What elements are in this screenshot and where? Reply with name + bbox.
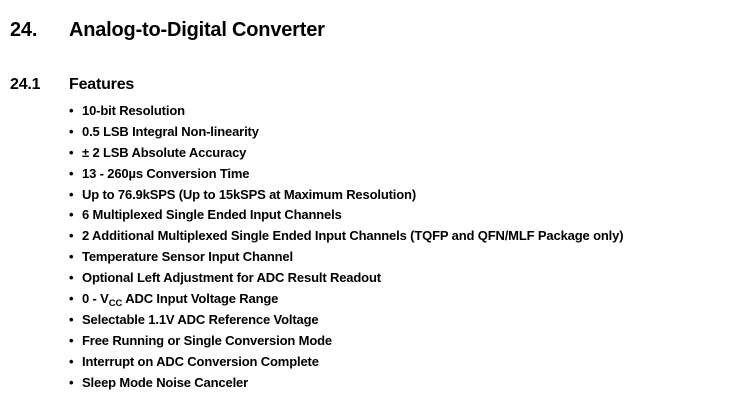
section-number: 24.: [10, 19, 37, 42]
feature-text-subscript: CC: [109, 298, 123, 309]
feature-list-item: •Interrupt on ADC Conversion Complete: [0, 352, 749, 373]
feature-list-item: •Sleep Mode Noise Canceler: [0, 373, 749, 394]
bullet-icon: •: [69, 247, 77, 268]
bullet-icon: •: [69, 205, 77, 226]
feature-list-item: •6 Multiplexed Single Ended Input Channe…: [0, 205, 749, 226]
datasheet-page: 24. Analog-to-Digital Converter 24.1 Fea…: [0, 0, 749, 414]
bullet-icon: •: [69, 185, 77, 206]
feature-list-item: •Up to 76.9kSPS (Up to 15kSPS at Maximum…: [0, 185, 749, 206]
feature-text: Temperature Sensor Input Channel: [82, 249, 293, 264]
bullet-icon: •: [69, 143, 77, 164]
feature-list-item: •2 Additional Multiplexed Single Ended I…: [0, 226, 749, 247]
bullet-icon: •: [69, 268, 77, 289]
bullet-icon: •: [69, 122, 77, 143]
subsection-title: Features: [69, 76, 134, 94]
feature-text: 0.5 LSB Integral Non-linearity: [82, 124, 259, 139]
subsection-number: 24.1: [10, 76, 40, 94]
feature-list-item: •Optional Left Adjustment for ADC Result…: [0, 268, 749, 289]
feature-text: Sleep Mode Noise Canceler: [82, 375, 248, 390]
bullet-icon: •: [69, 331, 77, 352]
feature-text: Selectable 1.1V ADC Reference Voltage: [82, 312, 319, 327]
feature-text: Interrupt on ADC Conversion Complete: [82, 354, 319, 369]
features-list: •10-bit Resolution•0.5 LSB Integral Non-…: [0, 101, 749, 393]
feature-list-item: •0.5 LSB Integral Non-linearity: [0, 122, 749, 143]
feature-list-item: •Selectable 1.1V ADC Reference Voltage: [0, 310, 749, 331]
subsection-heading: 24.1 Features: [0, 76, 749, 98]
feature-list-item: •Temperature Sensor Input Channel: [0, 247, 749, 268]
bullet-icon: •: [69, 373, 77, 394]
feature-list-item: •0 - VCC ADC Input Voltage Range: [0, 289, 749, 310]
feature-list-item: •± 2 LSB Absolute Accuracy: [0, 143, 749, 164]
bullet-icon: •: [69, 352, 77, 373]
feature-text: 0 - VCC ADC Input Voltage Range: [82, 291, 278, 306]
bullet-icon: •: [69, 289, 77, 310]
feature-text: ± 2 LSB Absolute Accuracy: [82, 145, 246, 160]
bullet-icon: •: [69, 226, 77, 247]
feature-list-item: •Free Running or Single Conversion Mode: [0, 331, 749, 352]
bullet-icon: •: [69, 101, 77, 122]
feature-text: 10-bit Resolution: [82, 103, 185, 118]
feature-text: Up to 76.9kSPS (Up to 15kSPS at Maximum …: [82, 187, 416, 202]
feature-text: 2 Additional Multiplexed Single Ended In…: [82, 228, 623, 243]
feature-list-item: •13 - 260µs Conversion Time: [0, 164, 749, 185]
feature-list-item: •10-bit Resolution: [0, 101, 749, 122]
section-heading: 24. Analog-to-Digital Converter: [0, 19, 749, 47]
feature-text: Optional Left Adjustment for ADC Result …: [82, 270, 381, 285]
feature-text: 6 Multiplexed Single Ended Input Channel…: [82, 207, 342, 222]
section-title: Analog-to-Digital Converter: [69, 19, 325, 42]
bullet-icon: •: [69, 310, 77, 331]
feature-text: 13 - 260µs Conversion Time: [82, 166, 249, 181]
feature-text: Free Running or Single Conversion Mode: [82, 333, 332, 348]
bullet-icon: •: [69, 164, 77, 185]
